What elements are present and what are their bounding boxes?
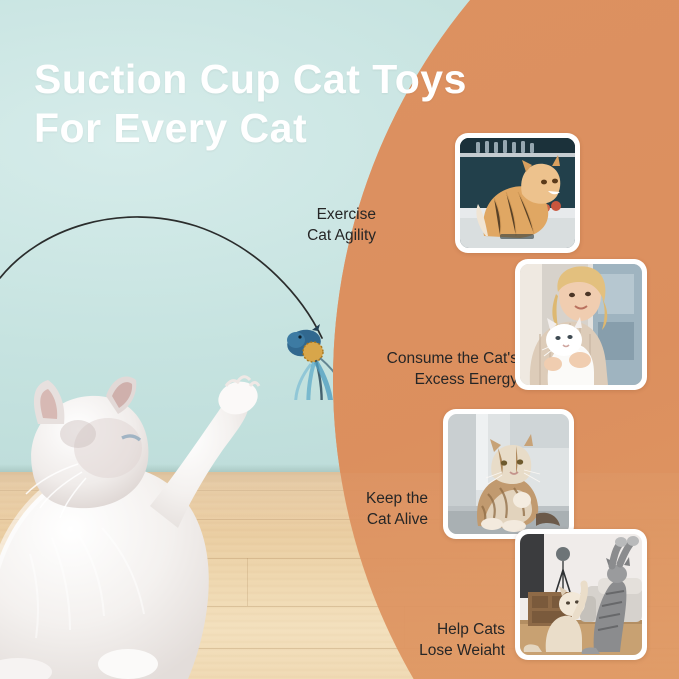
hero-cat-ragdoll — [0, 368, 312, 679]
page-title-line1: Suction Cup Cat Toys — [34, 56, 467, 102]
infographic-canvas: Suction Cup Cat Toys For Every Cat Exerc… — [0, 0, 679, 679]
photo-ginger-cat-kitchen — [460, 138, 575, 248]
photo-woman-holding-white-cat — [520, 264, 642, 385]
feature-label-2: Consume the Cat's Excess Energy — [338, 349, 518, 390]
photo-tabby-cat-sitting — [448, 414, 569, 534]
photo-two-cats-jumping — [520, 534, 642, 655]
feature-label-4: Help Cats Lose Weiaht — [370, 620, 505, 661]
feature-label-1: Exercise Cat Agility — [236, 205, 376, 246]
feature-thumbnail-2[interactable] — [515, 259, 647, 390]
feature-thumbnail-1[interactable] — [455, 133, 580, 253]
feature-thumbnail-4[interactable] — [515, 529, 647, 660]
feature-label-3: Keep the Cat Alive — [300, 489, 428, 530]
feature-thumbnail-3[interactable] — [443, 409, 574, 539]
